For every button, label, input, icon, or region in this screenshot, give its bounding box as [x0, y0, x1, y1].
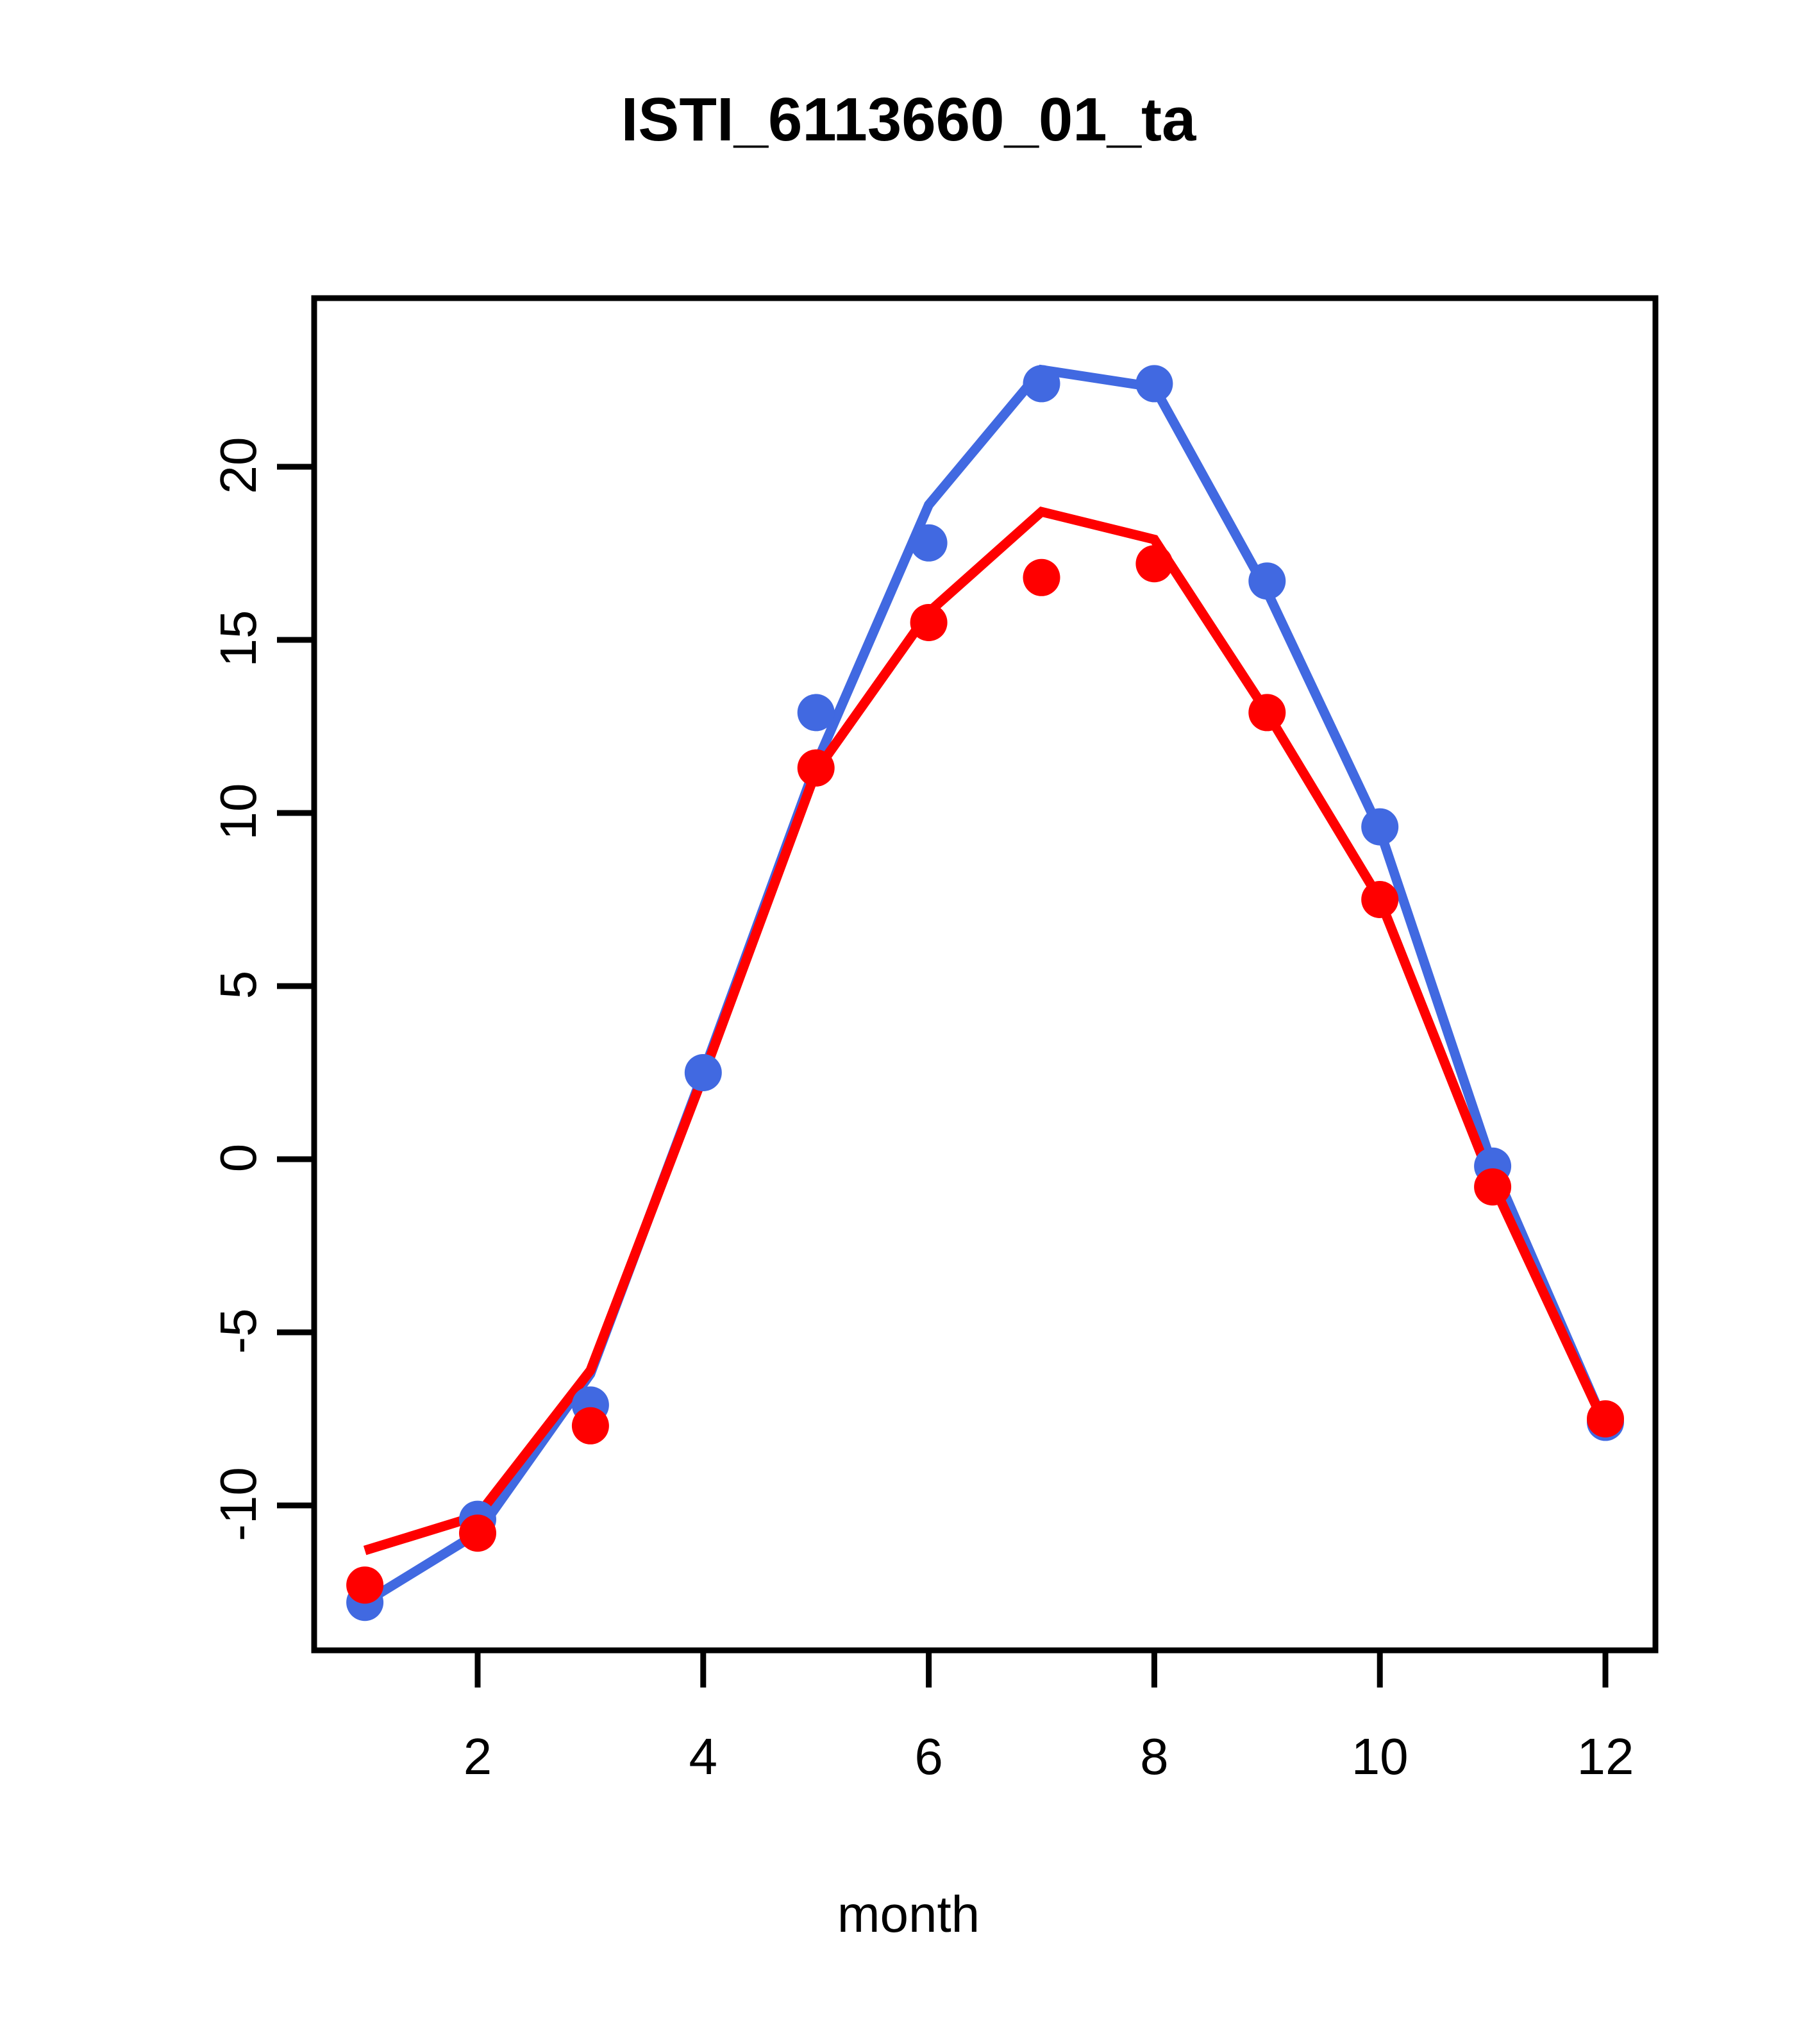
data-point-blue-points	[1248, 562, 1285, 599]
data-point-blue-points	[1361, 808, 1398, 846]
data-point-red-points	[1023, 559, 1060, 596]
data-point-red-points	[346, 1566, 383, 1604]
x-axis-tick-label: 4	[607, 1727, 800, 1786]
data-point-red-points	[1361, 881, 1398, 918]
data-point-blue-points	[798, 694, 835, 731]
y-axis-tick-label: 15	[209, 568, 268, 709]
x-axis-tick-label: 6	[833, 1727, 1025, 1786]
data-point-blue-points	[1135, 365, 1173, 402]
data-point-blue-points	[685, 1054, 722, 1091]
plot-box	[314, 298, 1655, 1650]
x-axis-tick-label: 2	[381, 1727, 574, 1786]
x-axis-tick-label: 8	[1058, 1727, 1250, 1786]
data-point-red-points	[1474, 1168, 1511, 1205]
data-point-red-points	[572, 1407, 609, 1445]
data-point-red-points	[459, 1514, 496, 1552]
series-line-red-line	[365, 512, 1605, 1550]
y-axis-tick-label: 0	[209, 1087, 268, 1228]
x-axis-title: month	[0, 1885, 1817, 1944]
y-axis-tick-label: 10	[209, 741, 268, 882]
y-axis-tick-label: 20	[209, 395, 268, 536]
x-axis-tick-label: 10	[1284, 1727, 1476, 1786]
data-point-red-points	[910, 604, 948, 641]
data-point-blue-points	[910, 524, 948, 562]
y-axis-tick-label: -5	[209, 1261, 268, 1402]
y-axis-tick-label: -10	[209, 1434, 268, 1575]
data-point-red-points	[1135, 545, 1173, 582]
data-point-blue-points	[1023, 365, 1060, 402]
data-point-red-points	[1248, 694, 1285, 731]
chart-canvas: ISTI_6113660_01_ta -10-505101520 2468101…	[0, 0, 1817, 2044]
series-lines	[365, 370, 1605, 1602]
y-axis-tick-label: 5	[209, 914, 268, 1055]
x-axis-tick-label: 12	[1509, 1727, 1702, 1786]
data-point-red-points	[1587, 1400, 1624, 1437]
data-point-red-points	[798, 750, 835, 787]
y-axis-ticks	[277, 467, 314, 1505]
x-axis-ticks	[478, 1650, 1605, 1688]
